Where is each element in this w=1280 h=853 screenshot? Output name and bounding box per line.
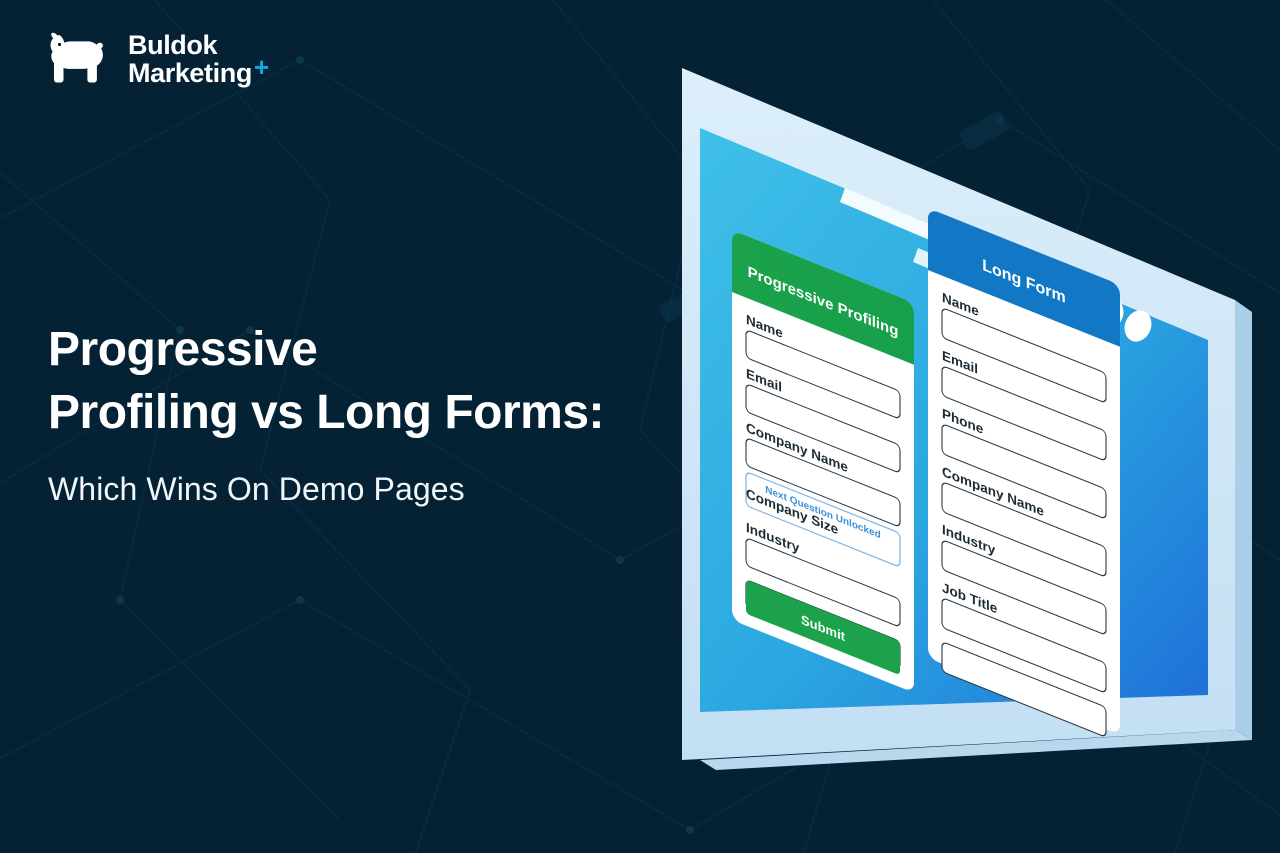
page-title: Progressive Profiling vs Long Forms: Whi…: [48, 318, 708, 508]
brand-logo[interactable]: Buldok Marketing +: [44, 28, 269, 92]
forms-illustration: Long Form Name Email Phone Company Name …: [660, 40, 1260, 840]
plus-icon: +: [254, 54, 269, 81]
brand-wordmark: Buldok Marketing +: [128, 32, 269, 87]
headline-line2: Profiling vs Long Forms:: [48, 381, 708, 444]
brand-name-line1: Buldok: [128, 32, 217, 60]
brand-name-line2: Marketing: [128, 60, 252, 88]
long-form-card: Long Form Name Email Phone Company Name …: [928, 208, 1120, 743]
headline-line1: Progressive: [48, 318, 708, 381]
bulldog-icon: [44, 28, 114, 92]
headline-subtitle: Which Wins On Demo Pages: [48, 471, 708, 508]
progressive-profiling-card: Progressive Profiling Name Email Company…: [732, 230, 914, 693]
